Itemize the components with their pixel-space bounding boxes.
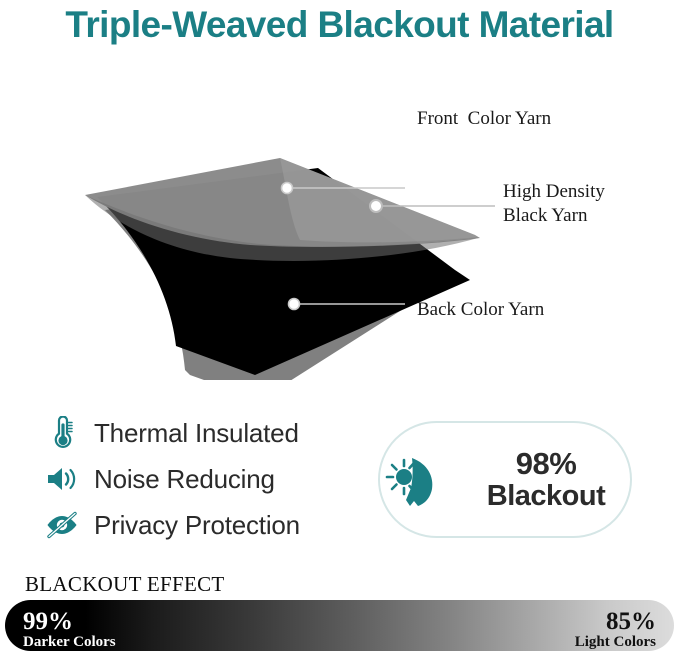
blackout-stat-dark-caption: Darker Colors bbox=[23, 635, 116, 651]
feature-item-thermal: Thermal Insulated bbox=[42, 410, 362, 456]
blackout-stat-light-caption: Light Colors bbox=[575, 635, 656, 651]
thermometer-icon bbox=[42, 413, 82, 453]
feature-item-noise: Noise Reducing bbox=[42, 456, 362, 502]
sun-blocked-icon bbox=[380, 444, 452, 516]
page-title: Triple-Weaved Blackout Material bbox=[0, 4, 679, 46]
badge-percent: 98% bbox=[516, 446, 577, 481]
blackout-stat-light: 85% Light Colors bbox=[575, 609, 656, 651]
feature-label-noise: Noise Reducing bbox=[94, 464, 275, 495]
callout-dot-icon bbox=[289, 299, 300, 310]
blackout-stat-dark-percent: 99% bbox=[23, 609, 116, 635]
blackout-stat-light-percent: 85% bbox=[575, 609, 656, 635]
speaker-icon bbox=[42, 459, 82, 499]
feature-label-privacy: Privacy Protection bbox=[94, 510, 300, 541]
blackout-stat-dark: 99% Darker Colors bbox=[23, 609, 116, 651]
feature-item-privacy: Privacy Protection bbox=[42, 502, 362, 548]
feature-list: Thermal Insulated Noise Reducing Privacy… bbox=[42, 410, 362, 548]
badge-text: 98% Blackout bbox=[462, 448, 630, 511]
callout-label-back: Back Color Yarn bbox=[417, 298, 544, 322]
badge-word: Blackout bbox=[487, 480, 605, 512]
blackout-badge: 98% Blackout bbox=[378, 421, 632, 538]
feature-label-thermal: Thermal Insulated bbox=[94, 418, 299, 449]
callout-label-front: Front Color Yarn bbox=[417, 107, 551, 131]
eye-off-icon bbox=[42, 505, 82, 545]
callout-dot-icon bbox=[370, 200, 382, 212]
blackout-effect-heading: BLACKOUT EFFECT bbox=[25, 572, 225, 597]
callout-label-high-density: High Density Black Yarn bbox=[503, 180, 605, 228]
callout-dot-icon bbox=[282, 183, 293, 194]
